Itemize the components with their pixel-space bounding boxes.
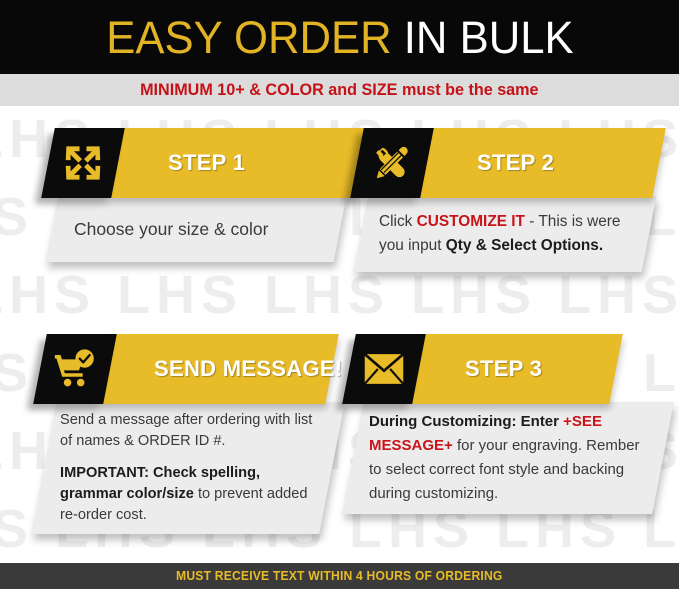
minimum-requirement-text: MINIMUM 10+ & COLOR and SIZE must be the… [140, 81, 538, 100]
cart-check-icon [53, 348, 97, 390]
card-step1-title-box: STEP 1 [103, 128, 365, 198]
card-send-message-title: SEND MESSAGE! [102, 356, 342, 382]
card-step1-title: STEP 1 [110, 150, 245, 176]
card-step3-title-box: STEP 3 [404, 334, 623, 404]
card-step2-body-box: Click CUSTOMIZE IT - This is were you in… [354, 196, 657, 272]
card-send-message: SEND MESSAGE! [40, 334, 340, 534]
page-title: EASY ORDER IN BULK [106, 15, 573, 60]
card-step2-body: Click CUSTOMIZE IT - This is were you in… [361, 210, 649, 258]
envelope-icon [363, 352, 405, 386]
card-step2-icon-box [350, 128, 434, 198]
card-step3-body: During Customizing: Enter +SEE MESSAGE+ … [353, 410, 663, 506]
card-send-message-body-box: Send a message after ordering with list … [31, 402, 345, 534]
card-step3: STEP 3 During Customizing: Enter +SEE ME… [349, 334, 669, 514]
header-banner: EASY ORDER IN BULK [0, 0, 679, 74]
card-step1-body-box: Choose your size & color [46, 196, 347, 262]
card-step1: STEP 1 Choose your size & color [48, 128, 348, 262]
card-step1-icon-box [41, 128, 125, 198]
subheader-bar: MINIMUM 10+ & COLOR and SIZE must be the… [0, 74, 679, 106]
footer-notice: MUST RECEIVE TEXT WITHIN 4 HOURS OF ORDE… [176, 569, 503, 583]
card-step3-banner: STEP 3 [349, 334, 669, 404]
infographic-page: LHS LHS LHS LHS LHS LHS LHS LHS LHS LHS … [0, 0, 679, 589]
card-step3-body-box: During Customizing: Enter +SEE MESSAGE+ … [342, 402, 674, 514]
card-step2-title-box: STEP 2 [412, 128, 666, 198]
card-step3-title: STEP 3 [411, 356, 542, 382]
page-title-white: IN BULK [403, 12, 573, 63]
card-send-message-icon-box [33, 334, 117, 404]
card-step2-title: STEP 2 [419, 150, 554, 176]
card-step1-banner: STEP 1 [48, 128, 348, 198]
card-step3-icon-box [342, 334, 426, 404]
card-step2-banner: STEP 2 [357, 128, 657, 198]
card-step2: STEP 2 [357, 128, 657, 272]
wrench-pencil-icon [371, 142, 413, 184]
page-title-gold: EASY ORDER [106, 12, 391, 63]
footer-banner: MUST RECEIVE TEXT WITHIN 4 HOURS OF ORDE… [0, 563, 679, 589]
card-send-message-title-box: SEND MESSAGE! [95, 334, 339, 404]
expand-arrows-icon [62, 142, 104, 184]
card-step1-body: Choose your size & color [52, 217, 340, 242]
card-send-message-body: Send a message after ordering with list … [44, 410, 332, 526]
card-send-message-banner: SEND MESSAGE! [40, 334, 340, 404]
